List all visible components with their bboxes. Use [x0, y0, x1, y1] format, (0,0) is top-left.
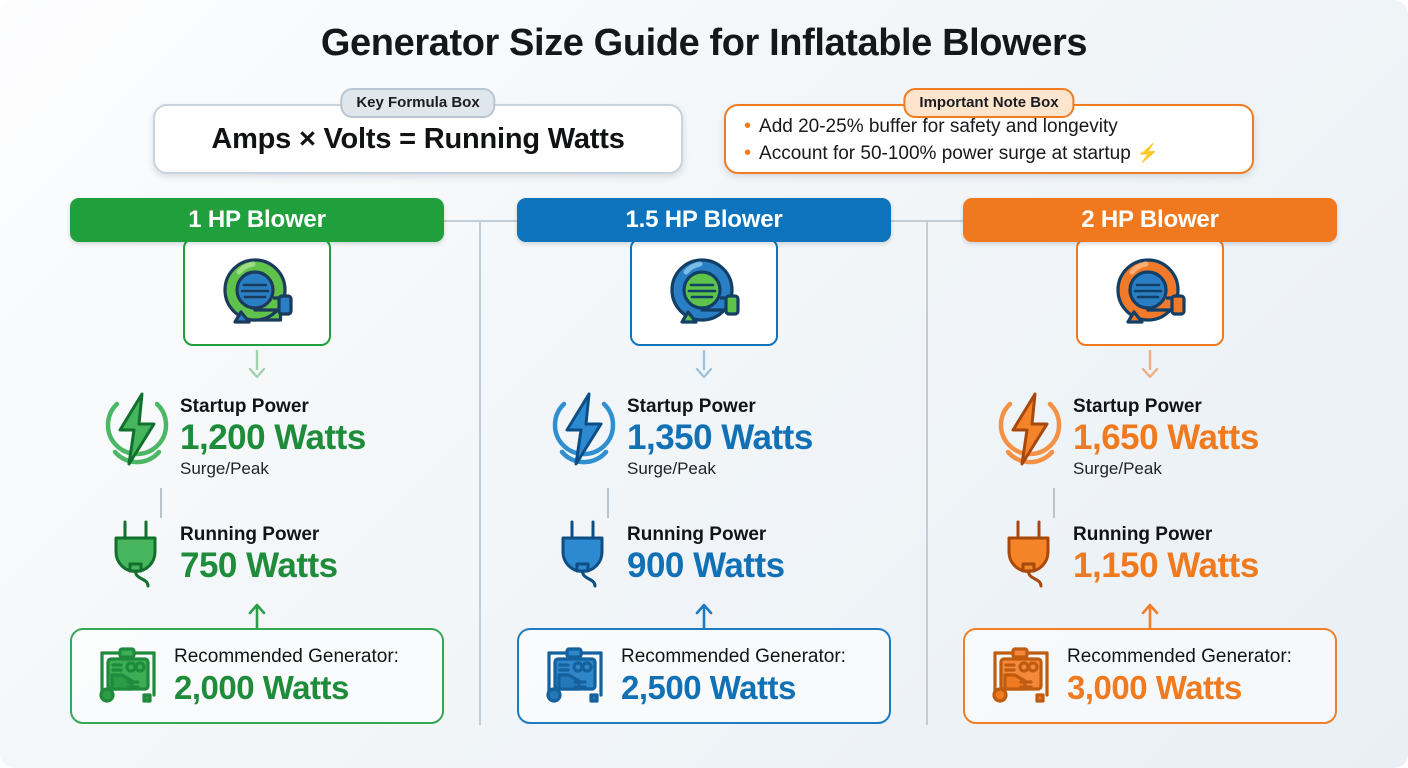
flow-arrow-down	[693, 350, 715, 378]
generator-text: Recommended Generator: 2,000 Watts	[168, 645, 399, 707]
running-power-value: 1,150 Watts	[1073, 546, 1259, 586]
column-divider-2	[926, 221, 928, 725]
startup-power-row: Startup Power 1,350 Watts Surge/Peak	[541, 390, 891, 480]
column-header: 2 HP Blower	[963, 198, 1337, 242]
generator-value: 3,000 Watts	[1067, 669, 1292, 707]
surge-peak-label: Surge/Peak	[180, 458, 366, 480]
page-title: Generator Size Guide for Inflatable Blow…	[0, 22, 1408, 65]
running-power-label: Running Power	[180, 524, 338, 546]
generator-text: Recommended Generator: 2,500 Watts	[615, 645, 846, 707]
key-formula-tag: Key Formula Box	[340, 88, 495, 118]
plug-icon	[555, 518, 613, 588]
running-power-text: Running Power 750 Watts	[180, 518, 338, 586]
startup-power-value: 1,650 Watts	[1073, 418, 1259, 458]
startup-power-icon-wrap	[541, 390, 627, 468]
note-text: Account for 50-100% power surge at start…	[759, 141, 1131, 167]
startup-power-text: Startup Power 1,350 Watts Surge/Peak	[627, 390, 813, 480]
bullet-icon: •	[744, 143, 751, 163]
startup-power-label: Startup Power	[627, 396, 813, 418]
running-power-value: 750 Watts	[180, 546, 338, 586]
blower-icon	[658, 252, 750, 332]
generator-value: 2,500 Watts	[621, 669, 846, 707]
blower-column-1hp: 1 HP Blower	[70, 198, 444, 242]
generator-icon-wrap	[535, 645, 615, 707]
generator-icon-wrap	[88, 645, 168, 707]
important-note-box: Important Note Box • Add 20-25% buffer f…	[724, 104, 1254, 174]
startup-power-row: Startup Power 1,650 Watts Surge/Peak	[987, 390, 1337, 480]
power-connector-line	[1053, 488, 1055, 518]
startup-power-text: Startup Power 1,200 Watts Surge/Peak	[180, 390, 366, 480]
generator-icon	[92, 645, 164, 707]
infographic-canvas: Generator Size Guide for Inflatable Blow…	[0, 0, 1408, 768]
power-connector-line	[607, 488, 609, 518]
generator-icon-wrap	[981, 645, 1061, 707]
blower-column-2hp: 2 HP Blower	[963, 198, 1337, 242]
startup-power-label: Startup Power	[180, 396, 366, 418]
note-line: • Account for 50-100% power surge at sta…	[744, 140, 1252, 167]
startup-power-row: Startup Power 1,200 Watts Surge/Peak	[94, 390, 444, 480]
running-power-text: Running Power 900 Watts	[627, 518, 785, 586]
blower-icon-card	[183, 238, 331, 346]
running-power-icon-wrap	[987, 518, 1073, 588]
running-power-text: Running Power 1,150 Watts	[1073, 518, 1259, 586]
power-block: Startup Power 1,350 Watts Surge/Peak	[541, 390, 891, 588]
blower-icon-card	[1076, 238, 1224, 346]
generator-label: Recommended Generator:	[621, 645, 846, 669]
startup-power-icon-wrap	[94, 390, 180, 468]
blower-column-15hp: 1.5 HP Blower	[517, 198, 891, 242]
lightning-bolt-circle-icon	[98, 390, 176, 468]
startup-power-value: 1,350 Watts	[627, 418, 813, 458]
key-formula-box: Key Formula Box Amps × Volts = Running W…	[153, 104, 683, 174]
startup-power-value: 1,200 Watts	[180, 418, 366, 458]
running-power-label: Running Power	[1073, 524, 1259, 546]
lightning-bolt-circle-icon	[545, 390, 623, 468]
surge-peak-label: Surge/Peak	[627, 458, 813, 480]
generator-icon	[985, 645, 1057, 707]
running-power-label: Running Power	[627, 524, 785, 546]
lightning-bolt-circle-icon	[991, 390, 1069, 468]
power-block: Startup Power 1,200 Watts Surge/Peak	[94, 390, 444, 588]
running-power-row: Running Power 1,150 Watts	[987, 518, 1337, 588]
surge-peak-label: Surge/Peak	[1073, 458, 1259, 480]
flow-arrow-up	[1139, 602, 1161, 628]
startup-power-label: Startup Power	[1073, 396, 1259, 418]
generator-label: Recommended Generator:	[1067, 645, 1292, 669]
startup-power-icon-wrap	[987, 390, 1073, 468]
power-connector-line	[160, 488, 162, 518]
generator-value: 2,000 Watts	[174, 669, 399, 707]
plug-icon	[1001, 518, 1059, 588]
plug-icon	[108, 518, 166, 588]
flow-arrow-up	[246, 602, 268, 628]
running-power-row: Running Power 750 Watts	[94, 518, 444, 588]
blower-icon	[1104, 252, 1196, 332]
running-power-icon-wrap	[541, 518, 627, 588]
flow-arrow-down	[246, 350, 268, 378]
power-block: Startup Power 1,650 Watts Surge/Peak	[987, 390, 1337, 588]
flow-arrow-up	[693, 602, 715, 628]
column-header: 1.5 HP Blower	[517, 198, 891, 242]
important-note-tag: Important Note Box	[903, 88, 1074, 118]
running-power-value: 900 Watts	[627, 546, 785, 586]
formula-text: Amps × Volts = Running Watts	[211, 123, 624, 156]
blower-icon	[211, 252, 303, 332]
recommended-generator-card: Recommended Generator: 2,500 Watts	[517, 628, 891, 724]
running-power-row: Running Power 900 Watts	[541, 518, 891, 588]
generator-icon	[539, 645, 611, 707]
recommended-generator-card: Recommended Generator: 3,000 Watts	[963, 628, 1337, 724]
recommended-generator-card: Recommended Generator: 2,000 Watts	[70, 628, 444, 724]
bullet-icon: •	[744, 116, 751, 136]
blower-icon-card	[630, 238, 778, 346]
flow-arrow-down	[1139, 350, 1161, 378]
lightning-bolt-icon: ⚡	[1137, 140, 1159, 166]
column-divider-1	[479, 221, 481, 725]
generator-label: Recommended Generator:	[174, 645, 399, 669]
generator-text: Recommended Generator: 3,000 Watts	[1061, 645, 1292, 707]
startup-power-text: Startup Power 1,650 Watts Surge/Peak	[1073, 390, 1259, 480]
column-header: 1 HP Blower	[70, 198, 444, 242]
running-power-icon-wrap	[94, 518, 180, 588]
